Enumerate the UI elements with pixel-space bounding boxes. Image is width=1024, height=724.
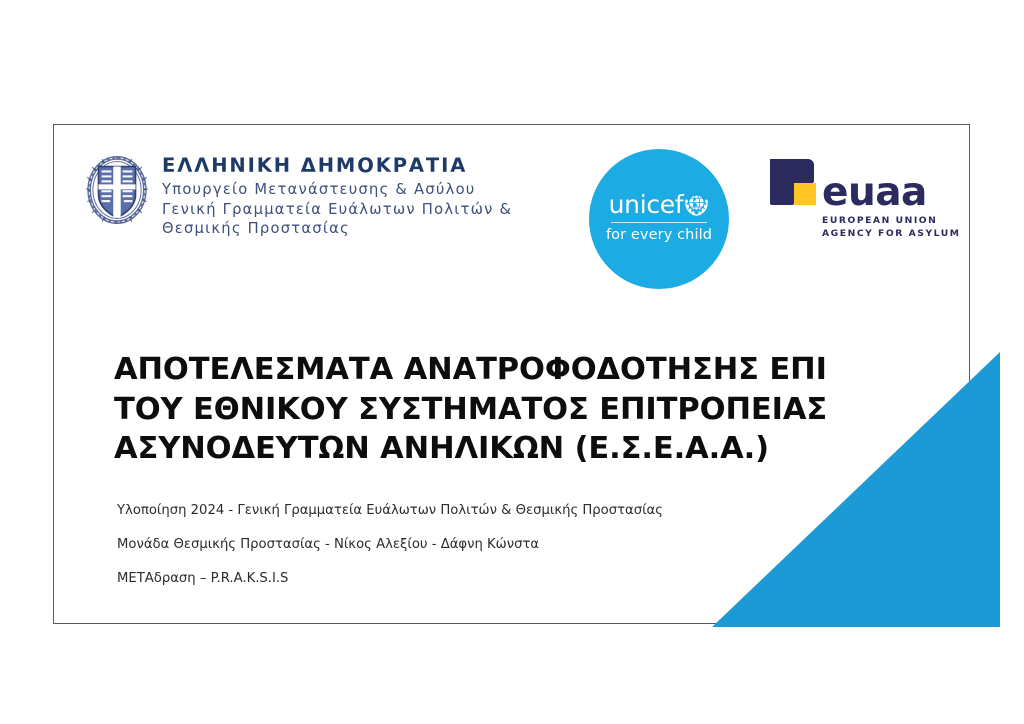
euaa-subtitle-line-2: AGENCY FOR ASYLUM	[822, 227, 951, 240]
slide-title: ΑΠΟΤΕΛΕΣΜΑΤΑ ΑΝΑΤΡΟΦΟΔΟΤΗΣΗΣ ΕΠΙ ΤΟΥ ΕΘΝ…	[114, 350, 834, 469]
unicef-logo: unicef	[589, 149, 729, 289]
greek-republic-logo: ΕΛΛΗΝΙΚΗ ΔΗΜΟΚΡΑΤΙΑ Υπουργείο Μετανάστευ…	[86, 152, 512, 239]
slide-title-line-1: ΑΠΟΤΕΛΕΣΜΑΤΑ ΑΝΑΤΡΟΦΟΔΟΤΗΣΗΣ ΕΠΙ	[114, 350, 834, 390]
greek-republic-ministry: Υπουργείο Μετανάστευσης & Ασύλου	[162, 180, 512, 199]
euaa-subtitle: EUROPEAN UNION AGENCY FOR ASYLUM	[822, 214, 951, 241]
greek-republic-secretariat-line1: Γενική Γραμματεία Ευάλωτων Πολιτών &	[162, 200, 512, 219]
slide-subtitle-line-1: Υλοποίηση 2024 - Γενική Γραμματεία Ευάλω…	[117, 504, 837, 517]
slide-title-line-3: ΑΣΥΝΟΔΕΥΤΩΝ ΑΝΗΛΙΚΩΝ (Ε.Σ.Ε.Α.Α.)	[114, 429, 834, 469]
greek-republic-text: ΕΛΛΗΝΙΚΗ ΔΗΜΟΚΡΑΤΙΑ Υπουργείο Μετανάστευ…	[162, 152, 512, 239]
euaa-logo: euaa EUROPEAN UNION AGENCY FOR ASYLUM	[766, 155, 951, 255]
unicef-divider	[611, 222, 707, 223]
unicef-wordmark-row: unicef	[609, 192, 710, 217]
slide-subtitle: Υλοποίηση 2024 - Γενική Γραμματεία Ευάλω…	[117, 504, 837, 586]
greek-republic-title: ΕΛΛΗΝΙΚΗ ΔΗΜΟΚΡΑΤΙΑ	[162, 154, 512, 178]
greek-coat-of-arms-icon	[86, 156, 148, 224]
euaa-mark-row: euaa	[766, 155, 951, 209]
euaa-flag-mark-icon	[766, 155, 820, 209]
greek-republic-secretariat-line2: Θεσμικής Προστασίας	[162, 219, 512, 238]
slide-subtitle-line-2: Μονάδα Θεσμικής Προστασίας - Νίκος Αλεξί…	[117, 538, 837, 551]
slide-title-line-2: ΤΟΥ ΕΘΝΙΚΟΥ ΣΥΣΤΗΜΑΤΟΣ ΕΠΙΤΡΟΠΕΙΑΣ	[114, 390, 834, 430]
slide-subtitle-line-3: ΜΕΤΑδραση – P.R.A.K.S.I.S	[117, 572, 837, 585]
unicef-globe-icon	[684, 192, 709, 217]
unicef-wordmark: unicef	[609, 192, 684, 217]
euaa-wordmark: euaa	[822, 176, 927, 209]
euaa-subtitle-line-1: EUROPEAN UNION	[822, 214, 951, 227]
logo-row: ΕΛΛΗΝΙΚΗ ΔΗΜΟΚΡΑΤΙΑ Υπουργείο Μετανάστευ…	[54, 125, 969, 305]
unicef-tagline: for every child	[606, 228, 712, 243]
slide-canvas: ΕΛΛΗΝΙΚΗ ΔΗΜΟΚΡΑΤΙΑ Υπουργείο Μετανάστευ…	[53, 124, 970, 624]
